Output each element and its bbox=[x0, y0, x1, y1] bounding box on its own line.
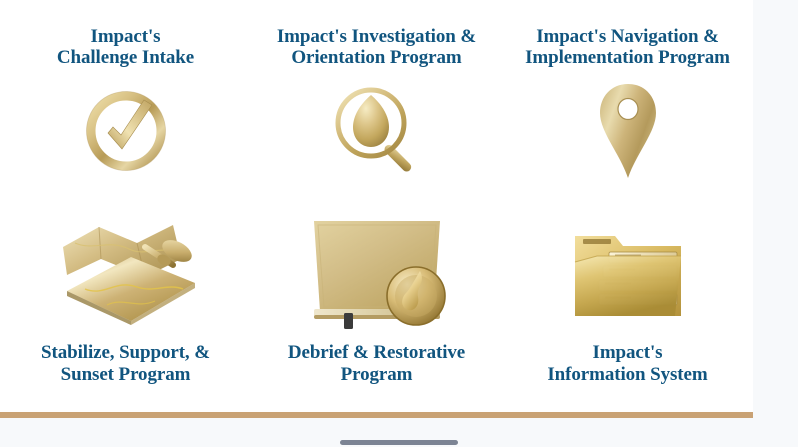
file-folder-documents-icon bbox=[508, 198, 747, 342]
laptop-with-flame-badge-icon bbox=[257, 198, 496, 342]
check-circle-icon bbox=[6, 69, 245, 198]
footer-accent-bar bbox=[0, 412, 753, 418]
program-title: Impact's Navigation & Implementation Pro… bbox=[525, 26, 730, 69]
program-cell-stabilize-support-sunset[interactable]: Stabilize, Support, & Sunset Program bbox=[0, 198, 251, 405]
program-title: Impact's Information System bbox=[547, 342, 707, 385]
horizontal-scrollbar[interactable] bbox=[0, 439, 798, 447]
map-pin-icon bbox=[508, 69, 747, 198]
horizontal-scrollbar-thumb[interactable] bbox=[340, 440, 458, 445]
page-gutter bbox=[753, 0, 798, 447]
program-title: Debrief & Restorative Program bbox=[288, 342, 465, 385]
program-cell-information-system[interactable]: Impact's Information System bbox=[502, 198, 753, 405]
program-title: Impact's Challenge Intake bbox=[57, 26, 194, 69]
program-cell-investigation-orientation[interactable]: Impact's Investigation & Orientation Pro… bbox=[251, 0, 502, 198]
program-cell-debrief-restorative[interactable]: Debrief & Restorative Program bbox=[251, 198, 502, 405]
presentation-slide: Impact's Challenge Intake bbox=[0, 0, 753, 418]
program-title: Stabilize, Support, & Sunset Program bbox=[41, 342, 210, 385]
program-cell-challenge-intake[interactable]: Impact's Challenge Intake bbox=[0, 0, 251, 198]
magnifying-glass-icon bbox=[257, 69, 496, 198]
folded-maps-with-pin-icon bbox=[6, 198, 245, 342]
program-cell-navigation-implementation[interactable]: Impact's Navigation & Implementation Pro… bbox=[502, 0, 753, 198]
program-title: Impact's Investigation & Orientation Pro… bbox=[277, 26, 476, 69]
program-grid: Impact's Challenge Intake bbox=[0, 0, 753, 405]
document-viewport: Impact's Challenge Intake bbox=[0, 0, 798, 447]
